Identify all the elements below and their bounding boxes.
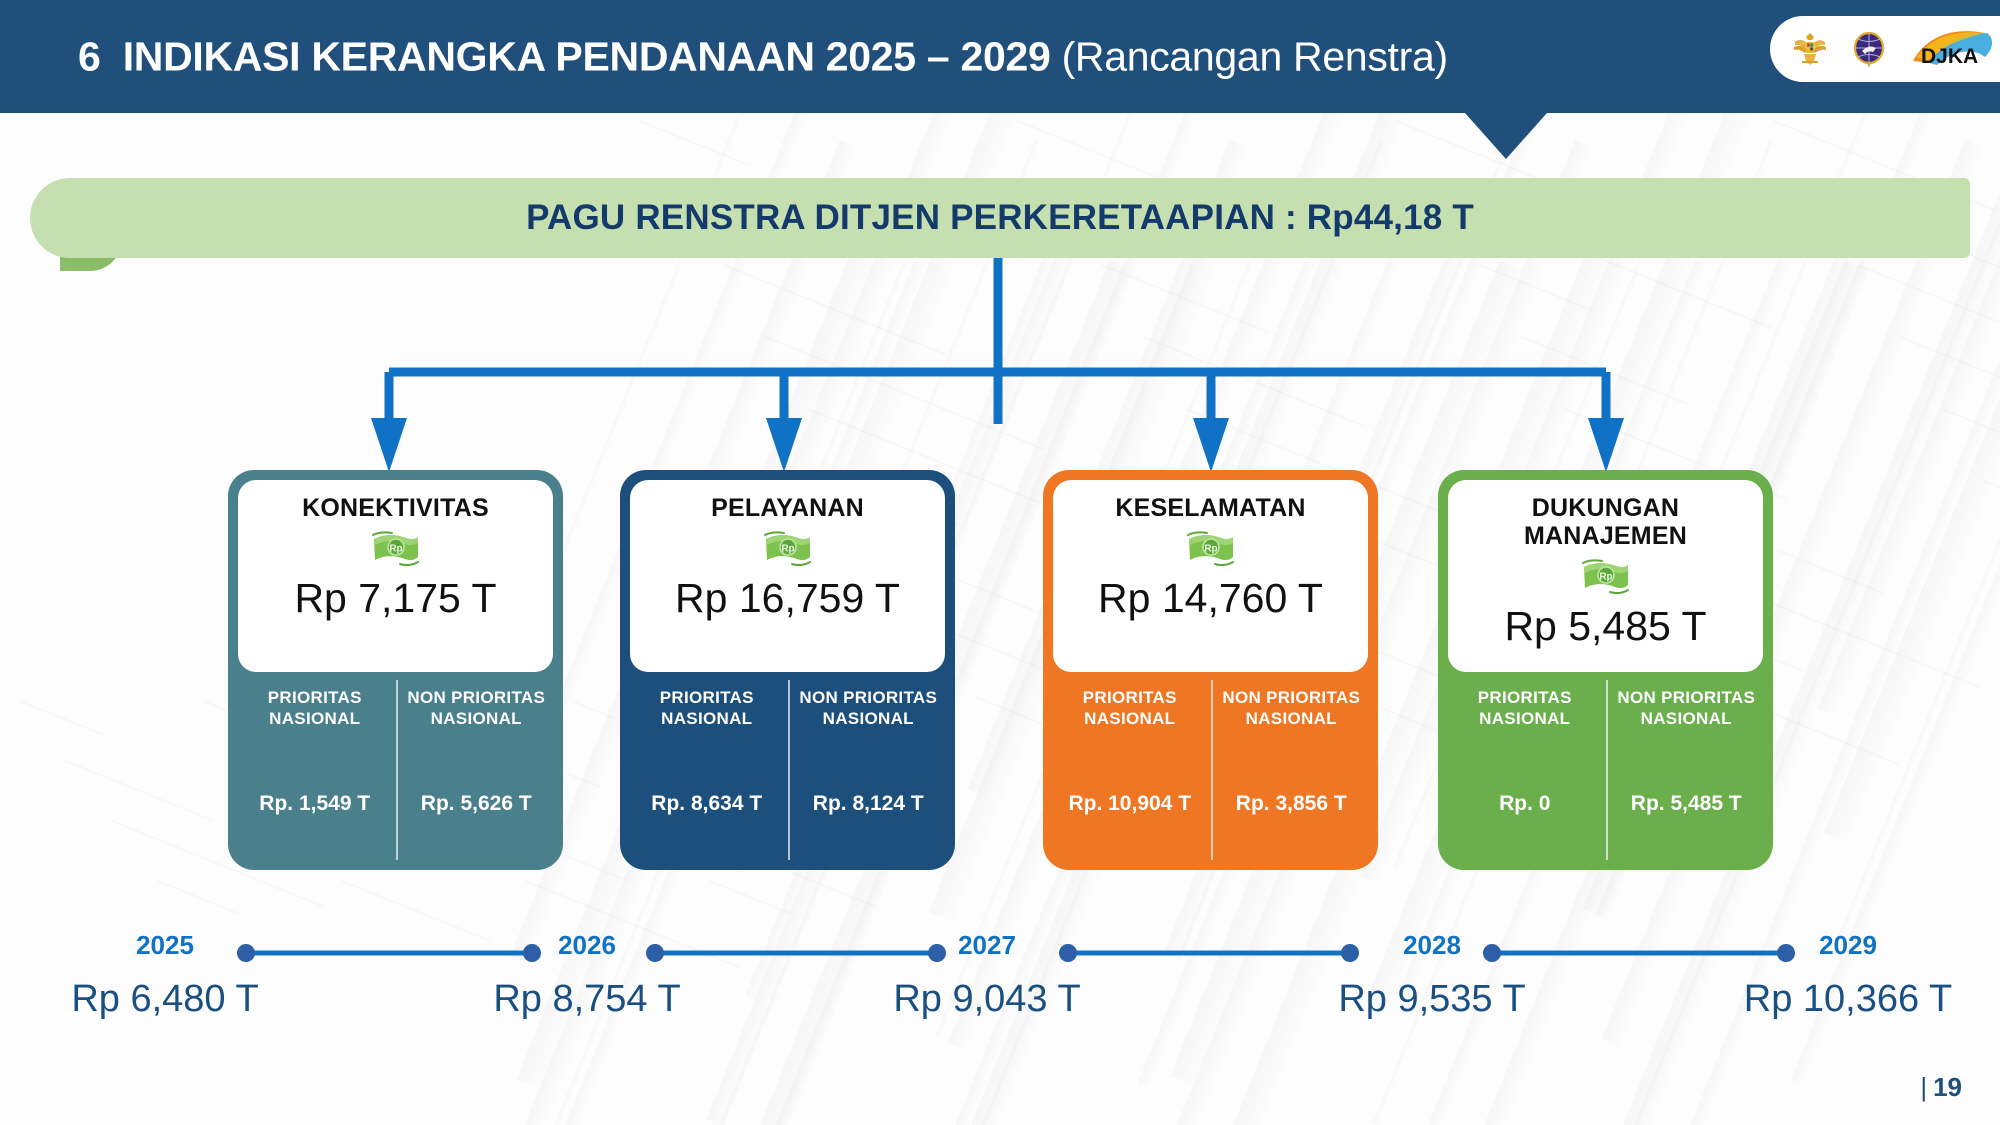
timeline-year-2029: 2029 xyxy=(1819,930,1877,961)
split-left: PRIORITAS NASIONALRp. 8,634 T xyxy=(626,688,788,858)
page-number-bar: | xyxy=(1920,1072,1927,1102)
kemenhub-emblem-icon xyxy=(1849,29,1889,69)
timeline-amount-2025: Rp 6,480 T xyxy=(71,978,258,1021)
split-right-label: NON PRIORITAS NASIONAL xyxy=(1614,688,1760,729)
timeline-amount-2029: Rp 10,366 T xyxy=(1744,978,1952,1021)
split-left-value: Rp. 8,634 T xyxy=(651,792,762,858)
split-right-value: Rp. 8,124 T xyxy=(813,792,924,858)
card-amount: Rp 14,760 T xyxy=(1098,575,1323,622)
card-head: KESELAMATANRpRp 14,760 T xyxy=(1053,480,1368,672)
card-split: PRIORITAS NASIONALRp. 10,904 TNON PRIORI… xyxy=(1043,672,1378,870)
split-right-value: Rp. 5,485 T xyxy=(1631,792,1742,858)
page-title: 6 INDIKASI KERANGKA PENDANAAN 2025 – 202… xyxy=(78,33,1448,80)
banner-label: PAGU RENSTRA DITJEN PERKERETAAPIAN : Rp4… xyxy=(30,178,1970,258)
split-right: NON PRIORITAS NASIONALRp. 5,626 T xyxy=(396,688,558,858)
card-head: DUKUNGANMANAJEMENRpRp 5,485 T xyxy=(1448,480,1763,672)
header-notch-arrow xyxy=(1465,113,1547,159)
slide-root: 6 INDIKASI KERANGKA PENDANAAN 2025 – 202… xyxy=(0,0,2000,1125)
card-head: PELAYANANRpRp 16,759 T xyxy=(630,480,945,672)
split-right-label: NON PRIORITAS NASIONAL xyxy=(796,688,942,729)
svg-text:Rp: Rp xyxy=(1204,544,1217,555)
money-banknote-icon: Rp xyxy=(370,555,422,572)
split-left-label: PRIORITAS NASIONAL xyxy=(1057,688,1203,729)
timeline-amount-2026: Rp 8,754 T xyxy=(493,978,680,1021)
pagu-banner: PAGU RENSTRA DITJEN PERKERETAAPIAN : Rp4… xyxy=(30,178,1970,258)
split-right: NON PRIORITAS NASIONALRp. 3,856 T xyxy=(1211,688,1373,858)
split-left: PRIORITAS NASIONALRp. 10,904 T xyxy=(1049,688,1211,858)
card-title: DUKUNGANMANAJEMEN xyxy=(1524,494,1687,550)
split-divider xyxy=(396,680,398,860)
card-title: KONEKTIVITAS xyxy=(302,494,489,522)
split-left-label: PRIORITAS NASIONAL xyxy=(1452,688,1598,729)
split-right-label: NON PRIORITAS NASIONAL xyxy=(404,688,550,729)
split-left-value: Rp. 10,904 T xyxy=(1068,792,1191,858)
timeline-amount-2027: Rp 9,043 T xyxy=(893,978,1080,1021)
svg-text:DJKA: DJKA xyxy=(1921,45,1978,68)
card-split: PRIORITAS NASIONALRp. 1,549 TNON PRIORIT… xyxy=(228,672,563,870)
svg-text:Rp: Rp xyxy=(781,544,794,555)
card-title: KESELAMATAN xyxy=(1115,494,1305,522)
split-right: NON PRIORITAS NASIONALRp. 8,124 T xyxy=(788,688,950,858)
timeline-year-2026: 2026 xyxy=(558,930,616,961)
money-banknote-icon: Rp xyxy=(762,555,814,572)
card-amount: Rp 16,759 T xyxy=(675,575,900,622)
money-banknote-icon: Rp xyxy=(1580,583,1632,600)
card-split: PRIORITAS NASIONALRp. 8,634 TNON PRIORIT… xyxy=(620,672,955,870)
split-left-value: Rp. 1,549 T xyxy=(259,792,370,858)
card-amount: Rp 5,485 T xyxy=(1504,603,1706,650)
category-card-konektivitas[interactable]: KONEKTIVITASRpRp 7,175 TPRIORITAS NASION… xyxy=(228,470,563,870)
logo-group: DJKA xyxy=(1770,16,2000,82)
split-right: NON PRIORITAS NASIONALRp. 5,485 T xyxy=(1606,688,1768,858)
timeline-amount-2028: Rp 9,535 T xyxy=(1338,978,1525,1021)
split-divider xyxy=(1606,680,1608,860)
split-right-value: Rp. 3,856 T xyxy=(1236,792,1347,858)
split-left-label: PRIORITAS NASIONAL xyxy=(634,688,780,729)
split-left-label: PRIORITAS NASIONAL xyxy=(242,688,388,729)
category-card-pelayanan[interactable]: PELAYANANRpRp 16,759 TPRIORITAS NASIONAL… xyxy=(620,470,955,870)
card-amount: Rp 7,175 T xyxy=(294,575,496,622)
title-sub: (Rancangan Renstra) xyxy=(1062,33,1448,79)
split-right-value: Rp. 5,626 T xyxy=(421,792,532,858)
category-cards: KONEKTIVITASRpRp 7,175 TPRIORITAS NASION… xyxy=(0,470,2000,870)
category-card-dukungan-manajemen[interactable]: DUKUNGANMANAJEMENRpRp 5,485 TPRIORITAS N… xyxy=(1438,470,1773,870)
svg-text:Rp: Rp xyxy=(1599,572,1612,583)
djka-logo-icon: DJKA xyxy=(1907,27,1999,71)
slide-header: 6 INDIKASI KERANGKA PENDANAAN 2025 – 202… xyxy=(0,0,2000,113)
split-left: PRIORITAS NASIONALRp. 1,549 T xyxy=(234,688,396,858)
split-right-label: NON PRIORITAS NASIONAL xyxy=(1219,688,1365,729)
category-card-keselamatan[interactable]: KESELAMATANRpRp 14,760 TPRIORITAS NASION… xyxy=(1043,470,1378,870)
split-left: PRIORITAS NASIONALRp. 0 xyxy=(1444,688,1606,858)
card-head: KONEKTIVITASRpRp 7,175 T xyxy=(238,480,553,672)
page-number: |19 xyxy=(1920,1072,1962,1103)
timeline-year-2027: 2027 xyxy=(958,930,1016,961)
title-main: INDIKASI KERANGKA PENDANAAN 2025 – 2029 xyxy=(123,33,1051,79)
card-split: PRIORITAS NASIONALRp. 0NON PRIORITAS NAS… xyxy=(1438,672,1773,870)
page-number-value: 19 xyxy=(1933,1072,1962,1102)
split-divider xyxy=(788,680,790,860)
money-banknote-icon: Rp xyxy=(1185,555,1237,572)
split-divider xyxy=(1211,680,1213,860)
garuda-pancasila-emblem-icon xyxy=(1789,28,1831,70)
card-title: PELAYANAN xyxy=(711,494,864,522)
split-left-value: Rp. 0 xyxy=(1499,792,1550,858)
timeline-year-2028: 2028 xyxy=(1403,930,1461,961)
timeline-year-2025: 2025 xyxy=(136,930,194,961)
title-number: 6 xyxy=(78,33,101,79)
svg-text:Rp: Rp xyxy=(389,544,402,555)
